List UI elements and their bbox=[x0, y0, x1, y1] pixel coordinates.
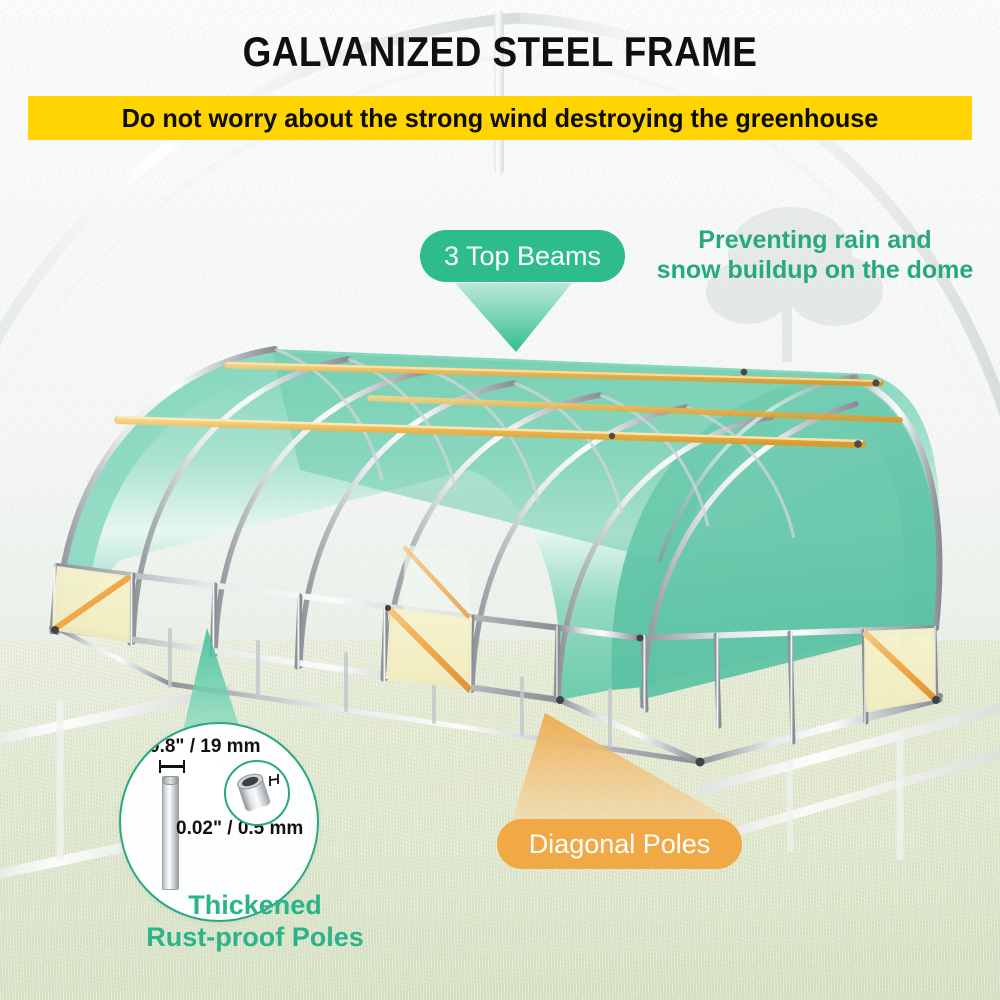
callout-top-beams[interactable]: 3 Top Beams bbox=[420, 230, 625, 282]
tube-cross-section-circle bbox=[224, 760, 290, 826]
infographic-canvas: GALVANIZED STEEL FRAME Do not worry abou… bbox=[0, 0, 1000, 1000]
side-note-line-1: Preventing rain and bbox=[640, 225, 990, 255]
tube-cross-section-icon bbox=[226, 762, 288, 824]
top-beams-pointer-cone bbox=[455, 283, 572, 352]
pole-detail-caption: Thickened Rust-proof Poles bbox=[110, 890, 400, 954]
callout-top-beams-label: 3 Top Beams bbox=[444, 241, 601, 272]
subtitle-banner-text: Do not worry about the strong wind destr… bbox=[122, 103, 879, 134]
side-note-rain-snow: Preventing rain and snow buildup on the … bbox=[640, 225, 990, 285]
callout-diagonal-poles[interactable]: Diagonal Poles bbox=[497, 819, 742, 869]
pole-detail-caption-line-1: Thickened bbox=[110, 890, 400, 922]
side-note-line-2: snow buildup on the dome bbox=[640, 255, 990, 285]
page-title: GALVANIZED STEEL FRAME bbox=[60, 28, 940, 76]
pole-diameter-label: 0.8" / 19 mm bbox=[149, 736, 260, 758]
callout-diagonal-poles-label: Diagonal Poles bbox=[529, 829, 711, 860]
subtitle-banner: Do not worry about the strong wind destr… bbox=[28, 96, 972, 140]
pole-detail-caption-line-2: Rust-proof Poles bbox=[110, 922, 400, 954]
caliper-icon bbox=[159, 760, 185, 773]
